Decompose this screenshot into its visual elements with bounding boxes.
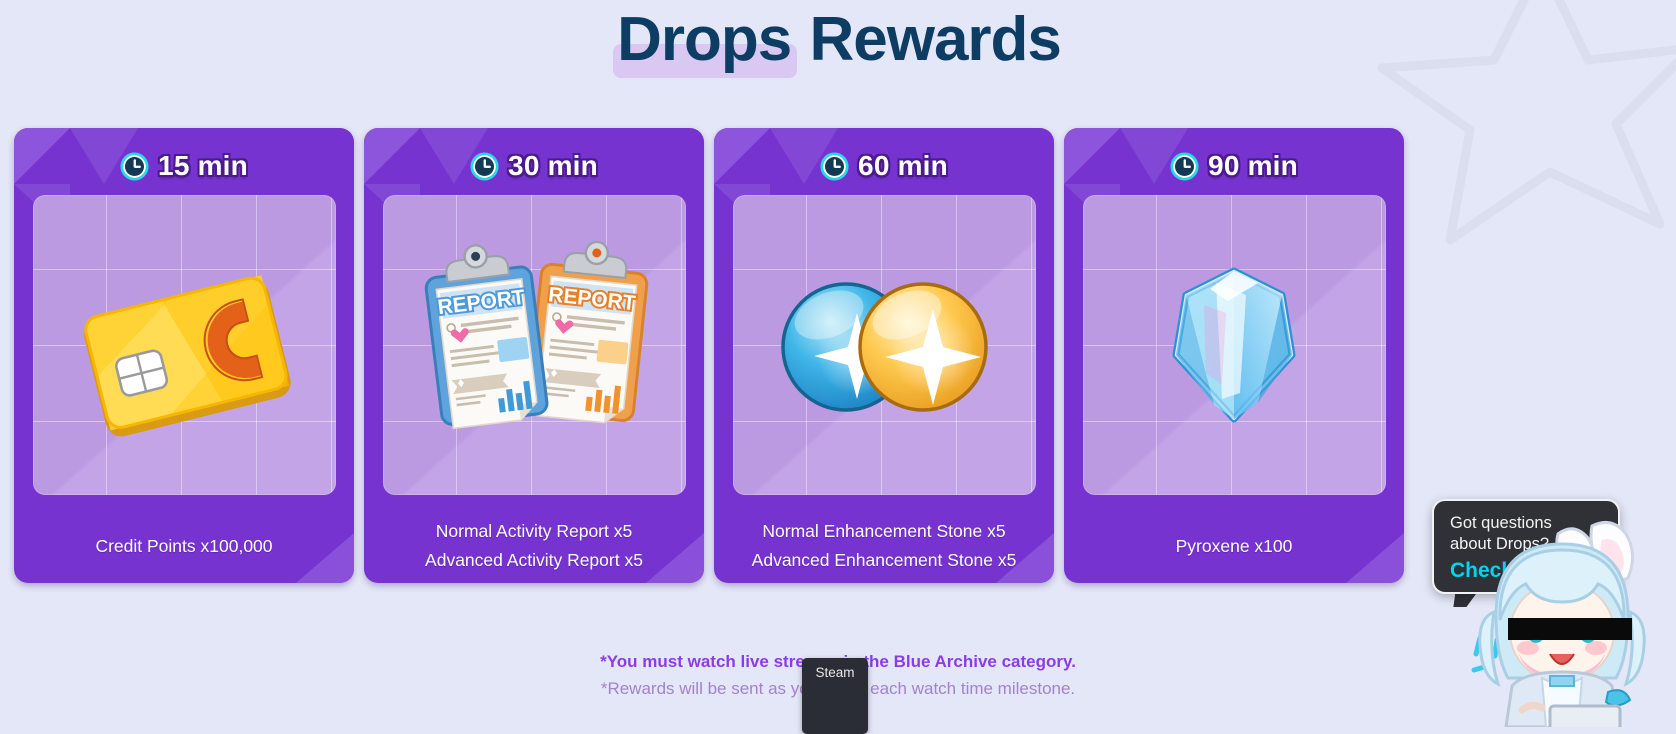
clock-icon [470, 152, 499, 181]
card-header: 30 min [470, 144, 598, 188]
card-art-panel [733, 195, 1036, 495]
clock-icon [1170, 152, 1199, 181]
clock-icon [120, 152, 149, 181]
card-header: 90 min [1170, 144, 1298, 188]
card-art-panel: REPORT [383, 195, 686, 495]
reward-line: Advanced Enhancement Stone x5 [752, 546, 1017, 575]
steam-tooltip: Steam [802, 658, 868, 734]
rewards-card-list: 15 min Credit Points x100,000 [14, 128, 1404, 583]
reward-card-30min[interactable]: 30 min REPORT [364, 128, 704, 583]
card-time-label: 30 min [508, 150, 598, 182]
card-header: 15 min [120, 144, 248, 188]
page-title-rest: Rewards [793, 5, 1061, 74]
pyroxene-gem-icon [1083, 195, 1386, 495]
card-rewards: Normal Activity Report x5 Advanced Activ… [364, 509, 704, 583]
reward-card-15min[interactable]: 15 min Credit Points x100,000 [14, 128, 354, 583]
reward-line: Credit Points x100,000 [95, 532, 272, 561]
card-time-label: 15 min [158, 150, 248, 182]
card-rewards: Credit Points x100,000 [14, 509, 354, 583]
corner-facet-icon [364, 128, 420, 184]
page-title-highlight: Drops [615, 4, 793, 75]
reward-card-60min[interactable]: 60 min [714, 128, 1054, 583]
card-rewards: Normal Enhancement Stone x5 Advanced Enh… [714, 509, 1054, 583]
reward-line: Normal Activity Report x5 [436, 517, 632, 546]
activity-report-icon: REPORT [383, 195, 686, 495]
card-art-panel [33, 195, 336, 495]
steam-tooltip-label: Steam [815, 665, 854, 734]
corner-facet-icon [714, 128, 770, 184]
corner-facet-icon [1064, 128, 1120, 184]
card-time-label: 60 min [858, 150, 948, 182]
reward-card-90min[interactable]: 90 min [1064, 128, 1404, 583]
card-rewards: Pyroxene x100 [1064, 509, 1404, 583]
credit-card-icon [33, 195, 336, 495]
clock-icon [820, 152, 849, 181]
page-title: Drops Rewards [0, 4, 1676, 75]
card-time-label: 90 min [1208, 150, 1298, 182]
reward-line: Pyroxene x100 [1176, 532, 1293, 561]
reward-line: Normal Enhancement Stone x5 [762, 517, 1005, 546]
card-header: 60 min [820, 144, 948, 188]
mascot-character [1466, 520, 1676, 727]
enhancement-stone-icon [733, 195, 1036, 495]
reward-line: Advanced Activity Report x5 [425, 546, 643, 575]
card-art-panel [1083, 195, 1386, 495]
corner-facet-icon [14, 128, 70, 184]
